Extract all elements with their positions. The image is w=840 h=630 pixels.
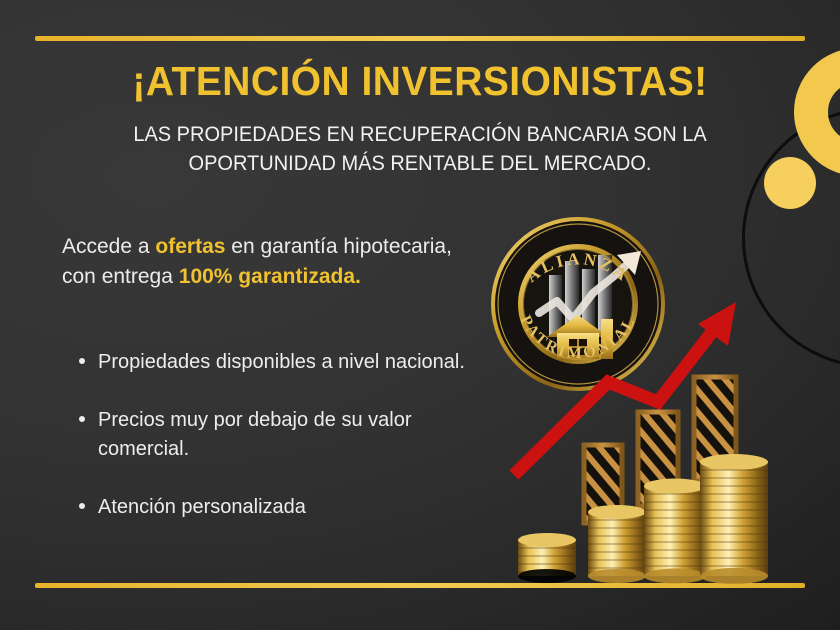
coin-stack-3 xyxy=(644,479,706,584)
lead-highlight-garantizada: 100% garantizada. xyxy=(179,265,361,288)
page-title: ¡ATENCIÓN INVERSIONISTAS! xyxy=(21,58,819,105)
benefits-list: Propiedades disponibles a nivel nacional… xyxy=(62,348,474,552)
coin-stack-4 xyxy=(700,454,768,584)
lead-highlight-ofertas: ofertas xyxy=(155,235,225,258)
coin-stack-2 xyxy=(588,505,646,583)
list-item: Precios muy por debajo de su valor comer… xyxy=(62,406,474,463)
promo-poster: ¡ATENCIÓN INVERSIONISTAS! LAS PROPIEDADE… xyxy=(0,0,840,630)
decorative-gold-circle xyxy=(764,157,816,209)
page-subtitle: LAS PROPIEDADES EN RECUPERACIÓN BANCARIA… xyxy=(132,120,709,178)
lead-text-1: Accede a xyxy=(62,235,155,258)
list-item: Atención personalizada xyxy=(62,493,474,521)
lead-paragraph: Accede a ofertas en garantía hipotecaria… xyxy=(62,232,462,293)
coin-stack-1 xyxy=(518,533,576,583)
top-divider-rule xyxy=(35,36,805,41)
growth-chart-illustration xyxy=(500,290,840,590)
list-item: Propiedades disponibles a nivel nacional… xyxy=(62,348,474,376)
